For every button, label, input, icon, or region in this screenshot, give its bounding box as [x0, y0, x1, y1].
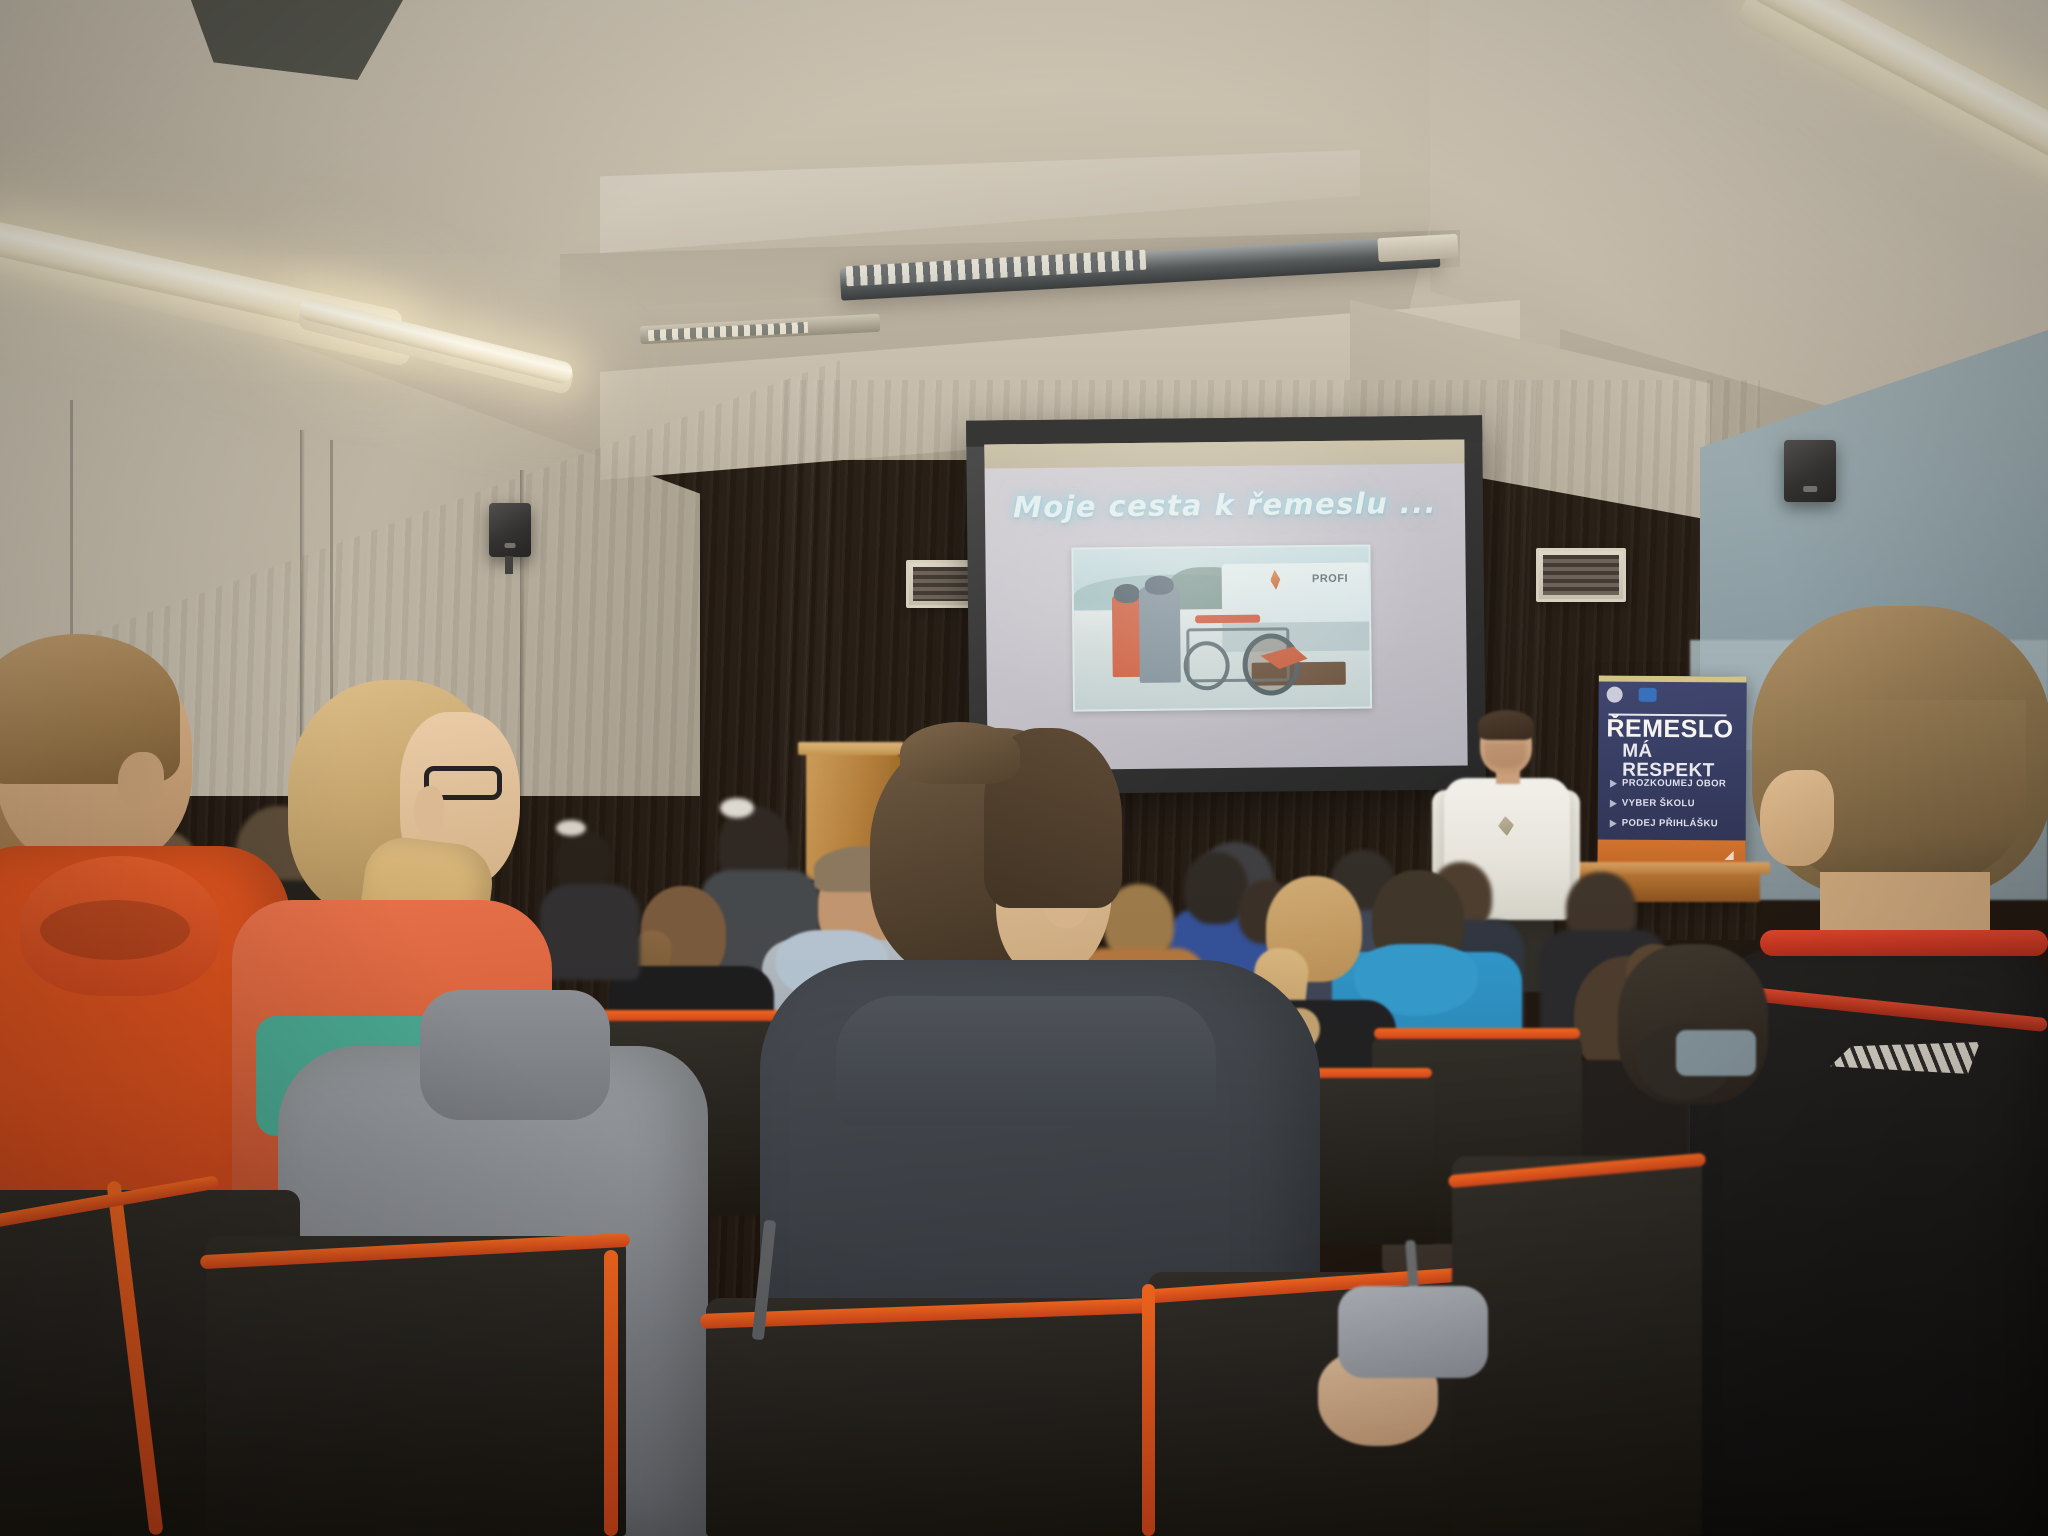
- person-small-kid: [540, 884, 640, 980]
- chair-piping-front-right-side: [1142, 1284, 1155, 1536]
- hair-scrunchie: [720, 798, 754, 818]
- hood-orange-shadow: [40, 900, 190, 960]
- auditorium-scene: Moje cesta k řemeslu ... PROFI: [0, 0, 2048, 1536]
- chair-piping-front-left-2-side: [604, 1250, 618, 1536]
- ear-ponytail-girl: [414, 786, 444, 836]
- screen-surface: Moje cesta k řemeslu ... PROFI: [984, 439, 1467, 770]
- banner-top-rail: [1599, 675, 1747, 682]
- shoulder-center-teen: [836, 996, 1216, 1126]
- hair-tie-white: [556, 820, 586, 836]
- slide-photo: PROFI: [1071, 544, 1372, 711]
- banner-bullet-item: PROZKOUMEJ OBOR: [1610, 778, 1746, 790]
- screen-light-band: [984, 439, 1464, 468]
- banner-bullet-list: PROZKOUMEJ OBOR VYBER ŠKOLU PODEJ PŘIHLÁ…: [1610, 778, 1746, 839]
- banner-bullet-label: PROZKOUMEJ OBOR: [1622, 778, 1726, 790]
- banner-bullet-label: VYBER ŠKOLU: [1622, 798, 1695, 810]
- chair-front-center[interactable]: [706, 1298, 1146, 1536]
- banner-bullet-item: PODEJ PŘIHLÁŠKU: [1610, 818, 1746, 830]
- arrow-right-icon: [1610, 799, 1617, 807]
- banner-footer-mark-icon: ◢: [1725, 848, 1734, 861]
- banner-headline-1: ŘEMESLO: [1606, 717, 1733, 743]
- lectern-top: [798, 742, 904, 755]
- arrow-right-icon: [1610, 779, 1617, 787]
- ceiling-light-cap: [1377, 234, 1458, 262]
- presenter-face-shadow: [1484, 742, 1526, 768]
- chair-front-left-2[interactable]: [206, 1236, 626, 1536]
- photo-rider-adult-head: [1144, 576, 1174, 595]
- ministry-logo-icon: [1607, 687, 1623, 703]
- wall-speaker-right: [1784, 440, 1836, 502]
- photo-red-bar: [1195, 615, 1260, 624]
- ear-orange-hoodie-boy: [118, 752, 164, 810]
- slide-title: Moje cesta k řemeslu ...: [985, 485, 1465, 524]
- photo-rider-adult: [1139, 587, 1181, 683]
- chair-piping-mid-right: [1374, 1028, 1580, 1039]
- jacket-collar-red-trim: [1760, 930, 2048, 956]
- speaker-bracket-left: [505, 556, 513, 574]
- banner-headline-2: MÁ RESPEKT: [1622, 742, 1746, 781]
- profi-logo-text: PROFI: [1312, 572, 1348, 584]
- banner-bullet-label: PODEJ PŘIHLÁŠKU: [1622, 818, 1718, 830]
- wall-vent-right: [1536, 548, 1626, 602]
- chamber-logo-icon: [1639, 688, 1657, 702]
- banner-bullet-item: VYBER ŠKOLU: [1610, 798, 1746, 810]
- banner-logos: [1607, 687, 1657, 703]
- wall-speaker-left: [489, 503, 531, 557]
- ear-black-jacket-person: [1760, 770, 1834, 866]
- presenter-hair: [1478, 710, 1534, 740]
- hair-center-teen-top: [900, 722, 1020, 784]
- arrow-right-icon: [1610, 819, 1617, 827]
- collar-small-child-right: [1676, 1030, 1756, 1076]
- sleeve-foreground: [1338, 1286, 1488, 1378]
- chair-right-aisle[interactable]: [1452, 1156, 1702, 1536]
- shoulder-ponytail-girl: [420, 990, 610, 1120]
- photo-rider-child-head: [1114, 584, 1141, 603]
